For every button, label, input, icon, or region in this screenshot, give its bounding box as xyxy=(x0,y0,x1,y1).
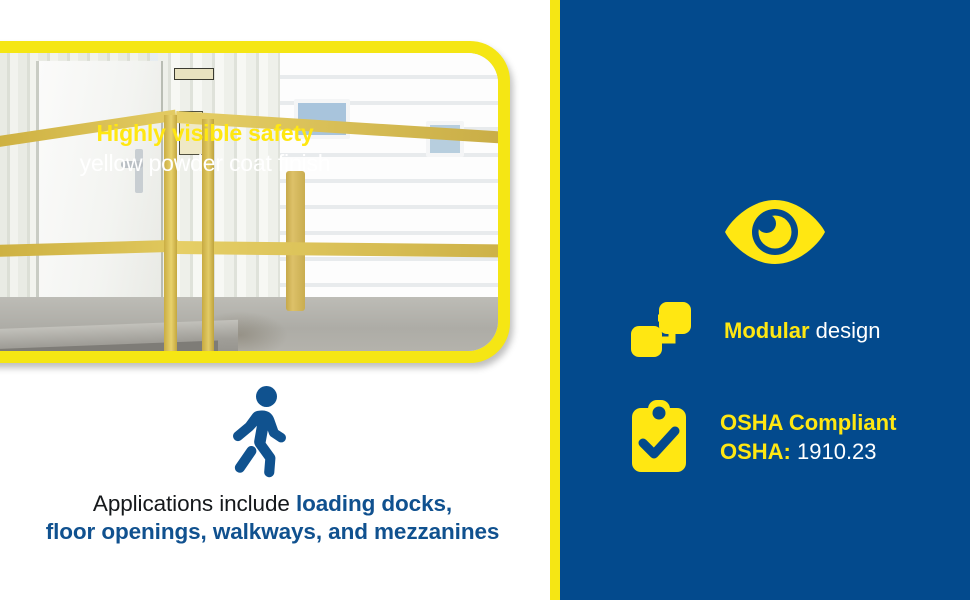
applications-caption: Applications include loading docks, floo… xyxy=(0,490,545,546)
photo-security-notice-sign xyxy=(174,68,214,80)
clipboard-check-icon xyxy=(630,400,688,477)
osha-label: OSHA Compliant OSHA: 1910.23 xyxy=(720,410,896,468)
modular-label-rest: design xyxy=(810,318,881,343)
osha-standard-value: 1910.23 xyxy=(791,439,877,464)
feature-title-line1: Highly visible safety xyxy=(0,118,410,148)
caption-line2-highlight: floor openings, walkways, and mezzanines xyxy=(46,519,500,544)
modular-label: Modular design xyxy=(724,318,881,347)
modular-label-bold: Modular xyxy=(724,318,810,343)
caption-line1-highlight: loading docks, xyxy=(296,491,452,516)
osha-label-bold: OSHA Compliant xyxy=(720,410,896,435)
osha-standard-label: OSHA: xyxy=(720,439,791,464)
eye-icon xyxy=(723,198,827,266)
photo-bollard xyxy=(286,171,305,311)
walking-person-icon xyxy=(226,386,294,478)
vertical-divider-stripe xyxy=(550,0,560,600)
guard-rail-photo xyxy=(0,53,498,351)
product-photo-frame xyxy=(0,41,510,363)
left-panel: Applications include loading docks, floo… xyxy=(0,0,550,600)
caption-line1-plain: Applications include xyxy=(93,491,296,516)
feature-title-line2: yellow powder coat finish xyxy=(0,148,410,178)
product-feature-banner: Applications include loading docks, floo… xyxy=(0,0,970,600)
feature-row-modular: Modular design xyxy=(630,300,881,365)
feature-title: Highly visible safety yellow powder coat… xyxy=(0,118,410,178)
modular-blocks-icon xyxy=(630,300,692,365)
photo-service-door xyxy=(36,61,163,299)
feature-row-osha: OSHA Compliant OSHA: 1910.23 xyxy=(630,400,896,477)
